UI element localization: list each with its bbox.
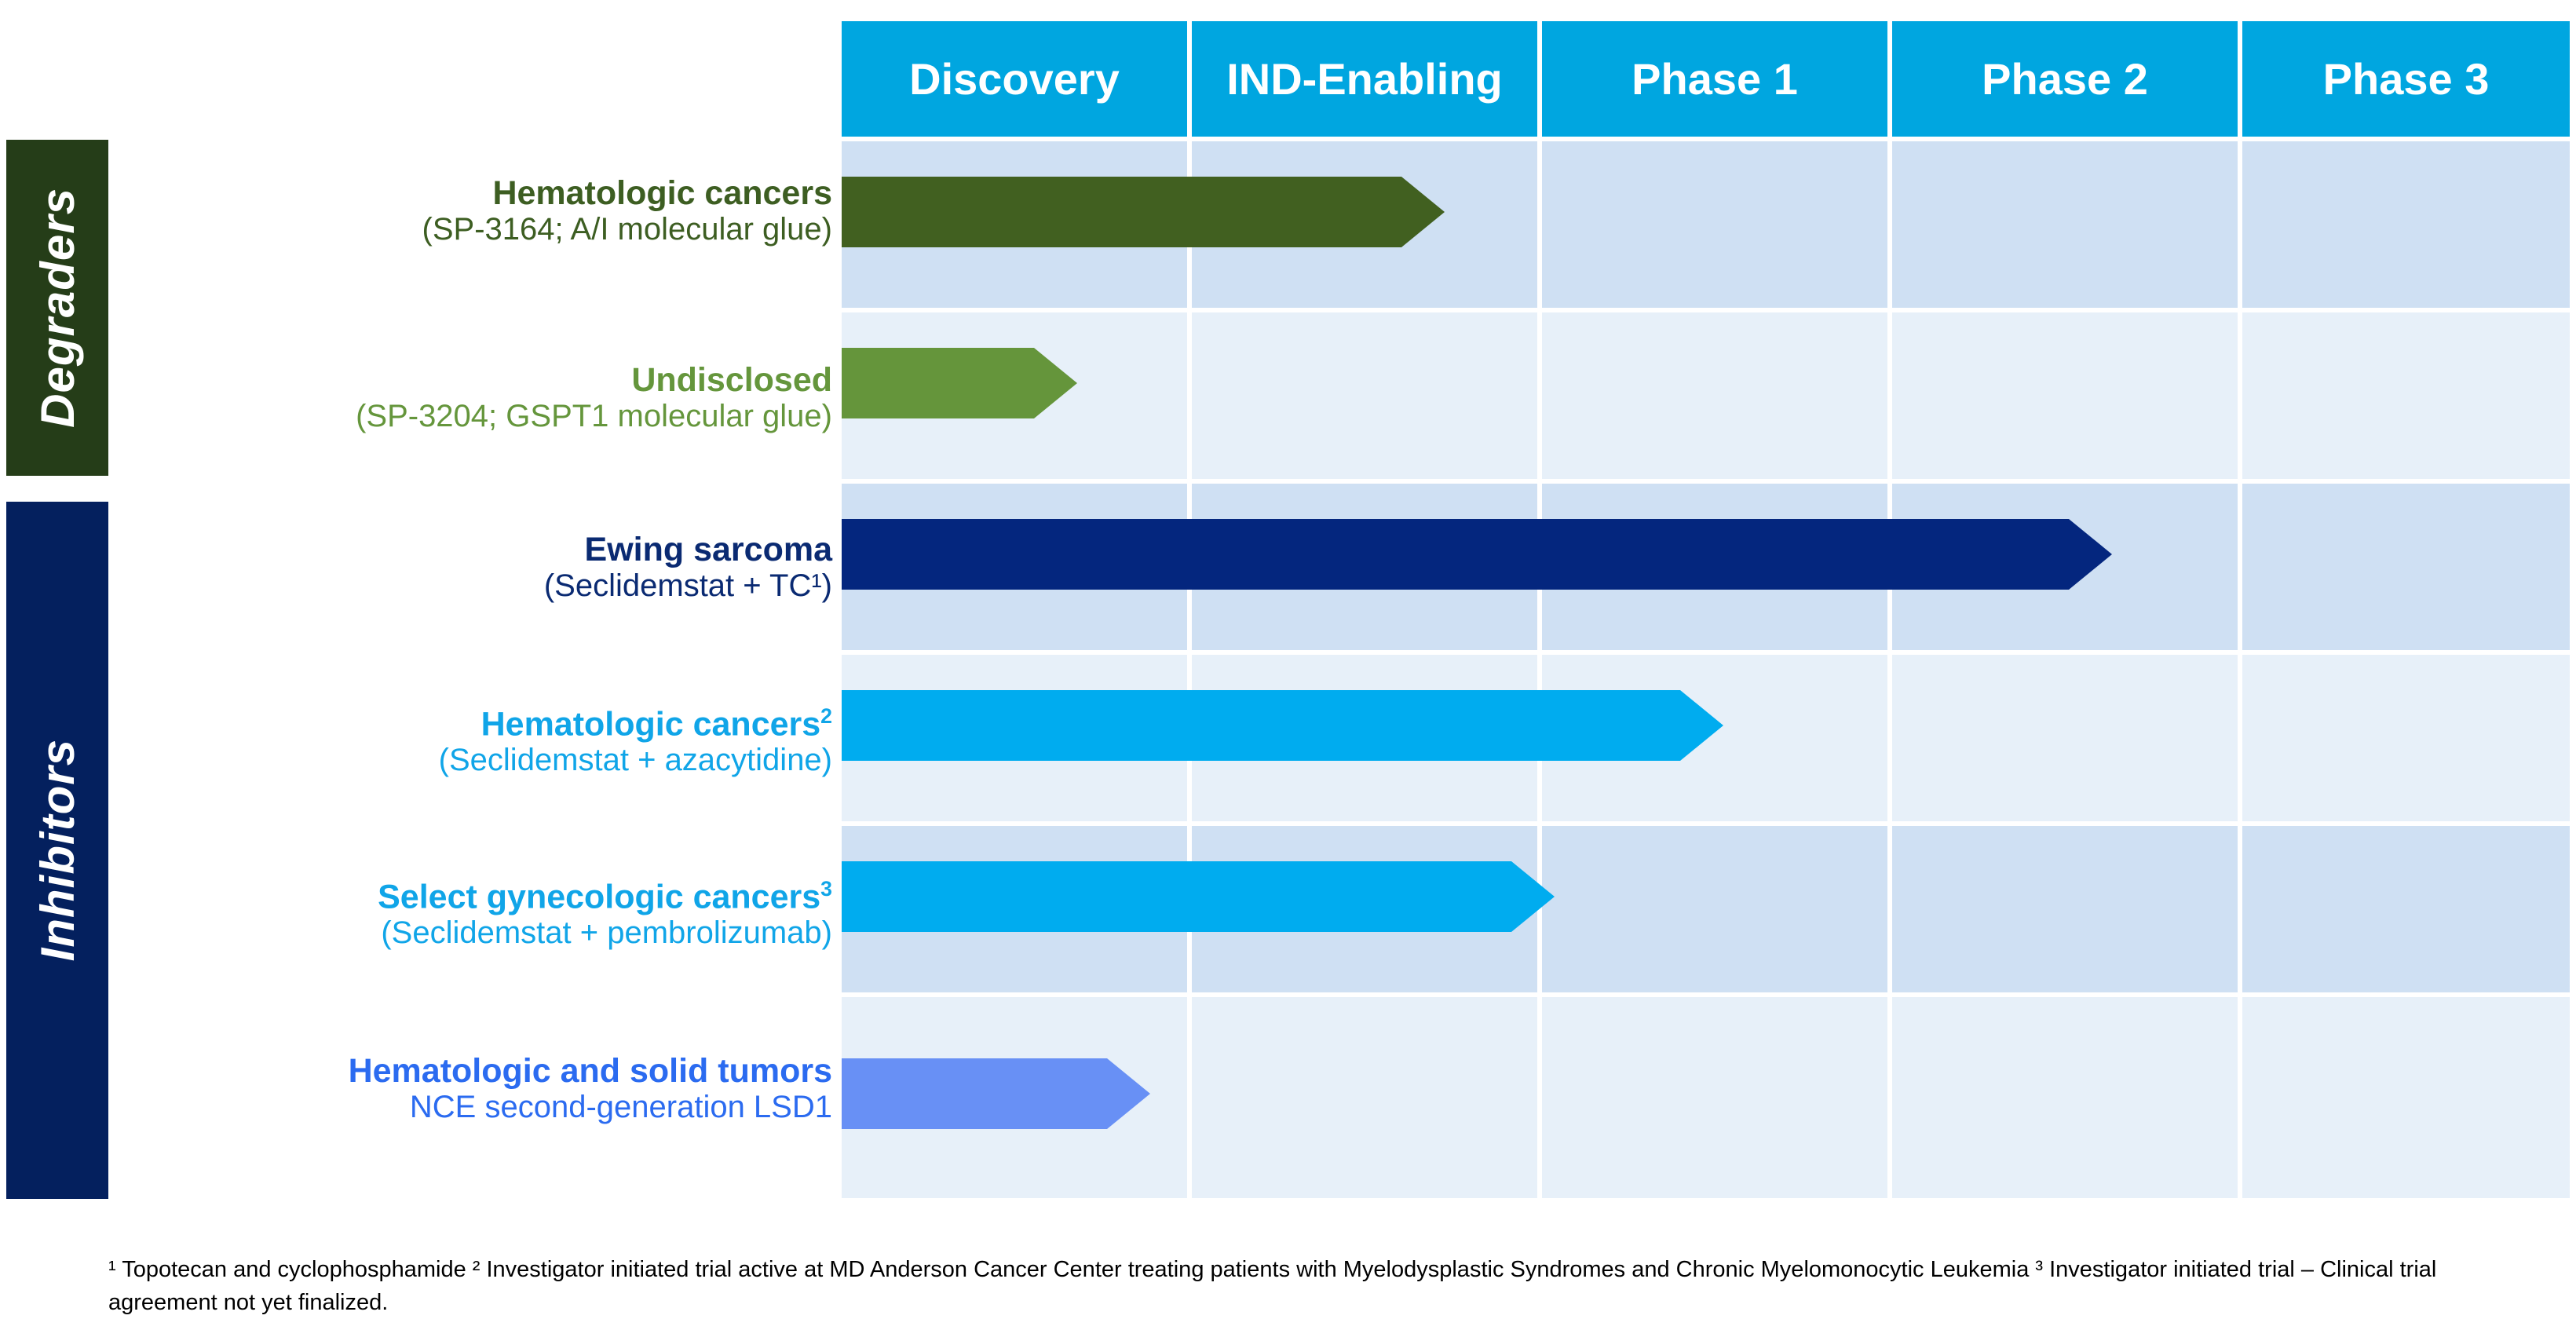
row-band-sp-3204 bbox=[842, 312, 2570, 479]
phase-header-phase-2[interactable]: Phase 2 bbox=[1892, 21, 2238, 137]
category-rail-degraders: Degraders bbox=[6, 140, 108, 476]
category-rail-inhibitors-label: Inhibitors bbox=[31, 739, 85, 961]
program-title-sup-gyn-pembro: 3 bbox=[820, 877, 832, 901]
program-subtitle-sp-3164: (SP-3164; A/I molecular glue) bbox=[126, 212, 832, 247]
program-subtitle-heme-aza: (Seclidemstat + azacytidine) bbox=[126, 743, 832, 778]
program-bar-gyn-pembro[interactable] bbox=[842, 861, 1555, 932]
phase-header-ind-enabling[interactable]: IND-Enabling bbox=[1192, 21, 1537, 137]
arrow-shape-gyn-pembro bbox=[842, 861, 1555, 932]
program-bar-heme-aza[interactable] bbox=[842, 690, 1723, 761]
program-title-sp-3164: Hematologic cancers bbox=[126, 174, 832, 212]
arrow-shape-ewing-sarcoma bbox=[842, 519, 2112, 590]
program-label-ewing-sarcoma: Ewing sarcoma (Seclidemstat + TC¹) bbox=[126, 531, 832, 604]
column-divider-3 bbox=[1887, 141, 1892, 1198]
program-bar-sp-3204[interactable] bbox=[842, 348, 1077, 418]
program-title-sup-heme-aza: 2 bbox=[820, 704, 832, 728]
phase-header-row: Discovery IND-Enabling Phase 1 Phase 2 P… bbox=[842, 21, 2570, 137]
column-divider-4 bbox=[2238, 141, 2242, 1198]
phase-header-phase-3[interactable]: Phase 3 bbox=[2242, 21, 2570, 137]
category-rail-inhibitors: Inhibitors bbox=[6, 502, 108, 1199]
program-bar-nce-lsd1[interactable] bbox=[842, 1058, 1150, 1129]
phase-header-discovery[interactable]: Discovery bbox=[842, 21, 1187, 137]
program-label-heme-aza: Hematologic cancers2 (Seclidemstat + aza… bbox=[126, 705, 832, 778]
program-title-sp-3204: Undisclosed bbox=[126, 361, 832, 399]
pipeline-grid bbox=[842, 141, 2570, 1198]
phase-header-phase-1[interactable]: Phase 1 bbox=[1542, 21, 1887, 137]
category-rail-degraders-label: Degraders bbox=[31, 188, 85, 428]
footnotes: ¹ Topotecan and cyclophosphamide ² Inves… bbox=[108, 1253, 2511, 1319]
pipeline-chart: Degraders Inhibitors Discovery IND-Enabl… bbox=[0, 0, 2576, 1341]
program-subtitle-ewing-sarcoma: (Seclidemstat + TC¹) bbox=[126, 568, 832, 604]
program-title-gyn-pembro: Select gynecologic cancers3 bbox=[126, 878, 832, 915]
arrow-shape-sp-3204 bbox=[842, 348, 1077, 418]
column-divider-1 bbox=[1187, 141, 1192, 1198]
program-bar-ewing-sarcoma[interactable] bbox=[842, 519, 2112, 590]
program-title-ewing-sarcoma: Ewing sarcoma bbox=[126, 531, 832, 568]
arrow-shape-heme-aza bbox=[842, 690, 1723, 761]
program-title-nce-lsd1: Hematologic and solid tumors bbox=[126, 1052, 832, 1090]
program-bar-sp-3164[interactable] bbox=[842, 177, 1445, 247]
arrow-shape-nce-lsd1 bbox=[842, 1058, 1150, 1129]
column-divider-2 bbox=[1537, 141, 1542, 1198]
arrow-shape-sp-3164 bbox=[842, 177, 1445, 247]
program-label-nce-lsd1: Hematologic and solid tumors NCE second-… bbox=[126, 1052, 832, 1125]
program-title-heme-aza: Hematologic cancers2 bbox=[126, 705, 832, 743]
program-subtitle-nce-lsd1: NCE second-generation LSD1 bbox=[126, 1090, 832, 1125]
program-label-sp-3204: Undisclosed (SP-3204; GSPT1 molecular gl… bbox=[126, 361, 832, 434]
program-subtitle-gyn-pembro: (Seclidemstat + pembrolizumab) bbox=[126, 915, 832, 951]
program-subtitle-sp-3204: (SP-3204; GSPT1 molecular glue) bbox=[126, 399, 832, 434]
program-label-gyn-pembro: Select gynecologic cancers3 (Seclidemsta… bbox=[126, 878, 832, 951]
program-label-sp-3164: Hematologic cancers (SP-3164; A/I molecu… bbox=[126, 174, 832, 247]
